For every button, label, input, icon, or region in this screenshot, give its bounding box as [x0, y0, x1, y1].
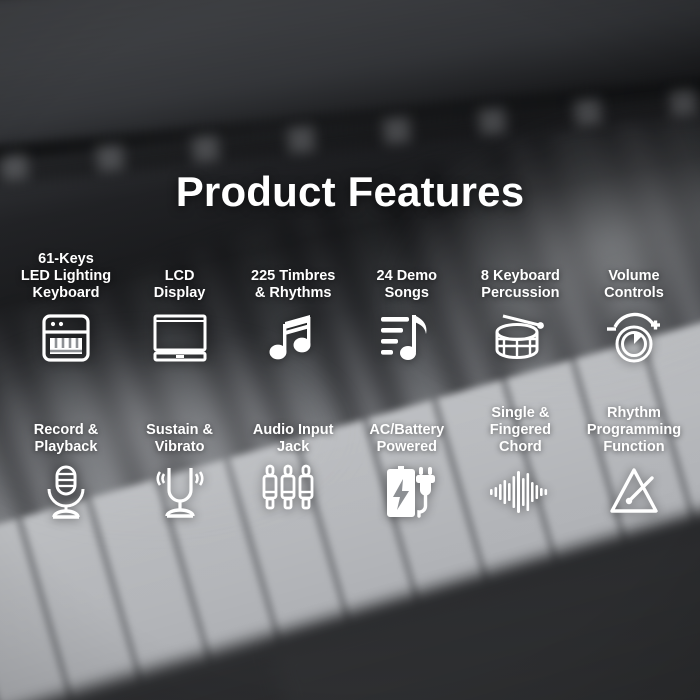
volume-knob-icon — [605, 309, 663, 367]
feature-item-rhythm-programming: Rhythm Programming Function — [580, 400, 688, 521]
keyboard-icon — [38, 309, 94, 367]
tuning-fork-icon — [152, 463, 208, 521]
feature-item-timbres-rhythms: 225 Timbres & Rhythms — [239, 250, 347, 367]
feature-label: Volume Controls — [604, 250, 664, 302]
feature-item-lcd-display: LCD Display — [126, 250, 234, 367]
snare-drum-icon — [491, 309, 549, 367]
feature-label: Audio Input Jack — [253, 400, 334, 456]
music-note-icon — [268, 309, 318, 367]
waveform-icon — [489, 463, 551, 521]
feature-label: LCD Display — [154, 250, 206, 302]
feature-item-sustain-vibrato: Sustain & Vibrato — [126, 400, 234, 521]
feature-item-audio-input-jack: Audio Input Jack — [239, 400, 347, 521]
playlist-note-icon — [379, 309, 435, 367]
lcd-display-icon — [151, 309, 209, 367]
battery-plug-icon — [376, 463, 438, 521]
product-features-poster: Product Features 61-Keys LED Lighting Ke… — [0, 0, 700, 700]
feature-label: AC/Battery Powered — [369, 400, 444, 456]
feature-label: 61-Keys LED Lighting Keyboard — [21, 250, 111, 302]
feature-item-single-fingered-chord: Single & Fingered Chord — [466, 400, 574, 521]
microphone-icon — [40, 463, 92, 521]
feature-item-led-keyboard: 61-Keys LED Lighting Keyboard — [12, 250, 120, 367]
feature-label: Record & Playback — [34, 400, 98, 456]
feature-label: Rhythm Programming Function — [587, 400, 681, 456]
feature-item-demo-songs: 24 Demo Songs — [353, 250, 461, 367]
page-title: Product Features — [0, 168, 700, 216]
audio-jack-icon — [262, 463, 324, 521]
feature-label: 8 Keyboard Percussion — [481, 250, 560, 302]
feature-item-record-playback: Record & Playback — [12, 400, 120, 521]
feature-label: 225 Timbres & Rhythms — [251, 250, 335, 302]
triangle-instrument-icon — [606, 463, 662, 521]
feature-label: 24 Demo Songs — [377, 250, 437, 302]
feature-row-2: Record & Playback Sustain & Vibra — [0, 400, 700, 521]
feature-item-volume-controls: Volume Controls — [580, 250, 688, 367]
feature-item-ac-battery-powered: AC/Battery Powered — [353, 400, 461, 521]
feature-item-keyboard-percussion: 8 Keyboard Percussion — [466, 250, 574, 367]
feature-label: Single & Fingered Chord — [490, 400, 551, 456]
feature-row-1: 61-Keys LED Lighting Keyboard — [0, 250, 700, 367]
feature-label: Sustain & Vibrato — [146, 400, 213, 456]
